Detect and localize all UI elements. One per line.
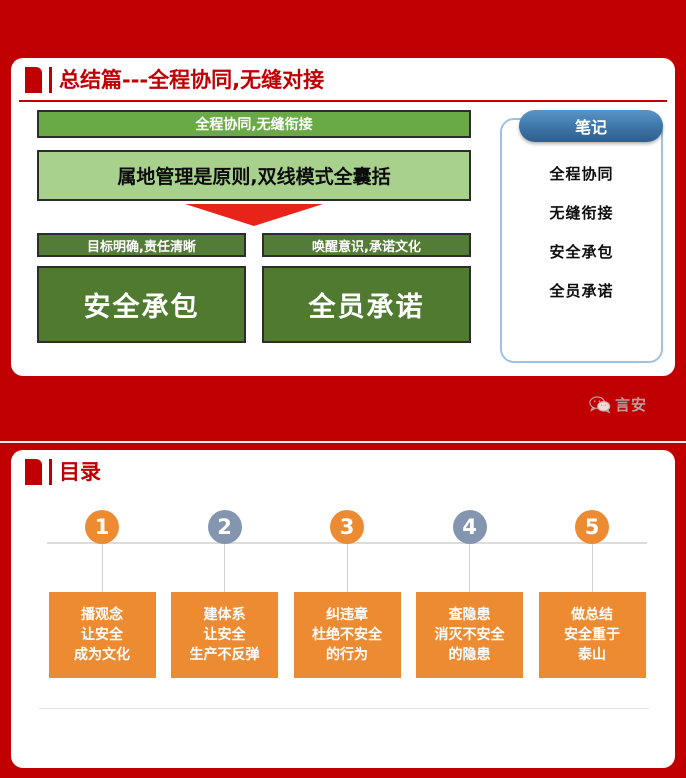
toc-box-line: 建体系 [204, 605, 246, 625]
toc-box[interactable]: 做总结 安全重于 泰山 [539, 592, 646, 678]
toc-box-line: 消灭不安全 [435, 625, 505, 645]
notes-list: 全程协同 无缝衔接 安全承包 全员承诺 [500, 163, 663, 301]
summary-column-right: 唤醒意识,承诺文化 全员承诺 [262, 233, 471, 343]
title-divider-icon [49, 67, 52, 93]
watermark-label: 言安 [615, 394, 647, 415]
toc-stem [592, 544, 593, 592]
toc-box-line: 让安全 [204, 625, 246, 645]
toc-box-line: 的行为 [326, 645, 368, 665]
toc-box-line: 让安全 [81, 625, 123, 645]
page-title: 目录 [59, 459, 101, 485]
toc-title-row: 目录 [25, 459, 101, 485]
note-item: 全程协同 [549, 163, 613, 184]
toc-box-line: 查隐患 [449, 605, 491, 625]
toc-stem [102, 544, 103, 592]
toc-stem [347, 544, 348, 592]
toc-box[interactable]: 查隐患 消灭不安全 的隐患 [416, 592, 523, 678]
sub-label: 目标明确,责任清晰 [37, 233, 246, 257]
slide-deck: 总结篇---全程协同,无缝对接 全程协同,无缝衔接 属地管理是原则,双线模式全囊… [0, 0, 686, 778]
flag-icon [25, 459, 42, 485]
headline-box: 全员承诺 [262, 266, 471, 343]
toc-box-line: 泰山 [578, 645, 606, 665]
summary-column-left: 目标明确,责任清晰 安全承包 [37, 233, 246, 343]
toc-item-4[interactable]: 4 查隐患 消灭不安全 的隐患 [415, 510, 525, 678]
summary-pair-row: 目标明确,责任清晰 安全承包 唤醒意识,承诺文化 全员承诺 [37, 233, 471, 343]
toc-box-line: 安全重于 [564, 625, 620, 645]
toc-item-2[interactable]: 2 建体系 让安全 生产不反弹 [170, 510, 280, 678]
title-divider-icon [49, 459, 52, 485]
wechat-icon [589, 396, 611, 413]
toc-box-line: 成为文化 [74, 645, 130, 665]
slide-summary: 总结篇---全程协同,无缝对接 全程协同,无缝衔接 属地管理是原则,双线模式全囊… [11, 58, 675, 376]
note-item: 全员承诺 [549, 280, 613, 301]
toc-number-badge: 5 [575, 510, 609, 544]
slide-toc: 目录 1 播观念 让安全 成为文化 2 建体系 让安全 生产不反弹 [11, 450, 675, 768]
toc-number-badge: 3 [330, 510, 364, 544]
toc-box[interactable]: 播观念 让安全 成为文化 [49, 592, 156, 678]
watermark: 言安 [589, 394, 647, 415]
down-arrow-icon [185, 204, 323, 226]
toc-bottom-divider [39, 708, 649, 709]
toc-item-5[interactable]: 5 做总结 安全重于 泰山 [537, 510, 647, 678]
toc-number-badge: 4 [453, 510, 487, 544]
sub-label: 唤醒意识,承诺文化 [262, 233, 471, 257]
toc-box-line: 播观念 [81, 605, 123, 625]
toc-box[interactable]: 纠违章 杜绝不安全 的行为 [294, 592, 401, 678]
toc-box-line: 杜绝不安全 [312, 625, 382, 645]
toc-item-list: 1 播观念 让安全 成为文化 2 建体系 让安全 生产不反弹 3 [47, 510, 647, 678]
slide-separator-line [0, 441, 686, 443]
toc-box-line: 生产不反弹 [190, 645, 260, 665]
toc-box[interactable]: 建体系 让安全 生产不反弹 [171, 592, 278, 678]
toc-box-line: 纠违章 [326, 605, 368, 625]
note-item: 无缝衔接 [549, 202, 613, 223]
note-item: 安全承包 [549, 241, 613, 262]
toc-stem [224, 544, 225, 592]
toc-item-3[interactable]: 3 纠违章 杜绝不安全 的行为 [292, 510, 402, 678]
toc-box-line: 的隐患 [449, 645, 491, 665]
toc-number-badge: 1 [85, 510, 119, 544]
toc-box-line: 做总结 [571, 605, 613, 625]
summary-left-column: 全程协同,无缝衔接 属地管理是原则,双线模式全囊括 目标明确,责任清晰 安全承包… [37, 110, 483, 343]
band-main: 属地管理是原则,双线模式全囊括 [37, 150, 471, 201]
summary-title-row: 总结篇---全程协同,无缝对接 [25, 67, 324, 93]
arrow-container [37, 204, 471, 230]
toc-item-1[interactable]: 1 播观念 让安全 成为文化 [47, 510, 157, 678]
page-title: 总结篇---全程协同,无缝对接 [59, 67, 324, 93]
notes-header-pill: 笔记 [519, 110, 663, 142]
toc-stem [469, 544, 470, 592]
toc-number-badge: 2 [208, 510, 242, 544]
flag-icon [25, 67, 42, 93]
band-top: 全程协同,无缝衔接 [37, 110, 471, 138]
headline-box: 安全承包 [37, 266, 246, 343]
title-rule [19, 100, 667, 102]
